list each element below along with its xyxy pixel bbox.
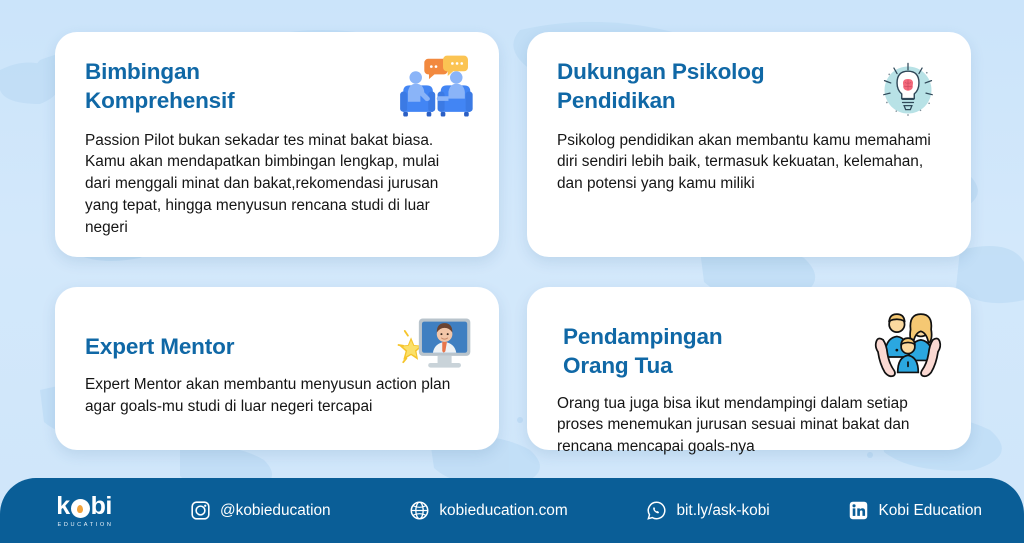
card-body: Passion Pilot bukan sekadar tes minat ba…	[85, 130, 469, 239]
globe-icon	[409, 500, 430, 521]
logo-o-icon	[71, 499, 90, 518]
card-body: Psikolog pendidikan akan membantu kamu m…	[557, 130, 941, 196]
whatsapp-icon	[646, 500, 667, 521]
family-in-hands-icon	[869, 309, 947, 381]
kobi-logo[interactable]: k bi EDUCATION	[4, 494, 164, 528]
instagram-icon	[190, 500, 211, 521]
card-pendampingan-orang-tua[interactable]: Pendampingan Orang Tua Orang tua juga bi…	[527, 287, 971, 450]
feature-cards-grid: Bimbingan Komprehensif Passion Pilot buk…	[55, 32, 971, 450]
linkedin-icon	[848, 500, 869, 521]
social-link-instagram[interactable]: @kobieducation	[190, 500, 331, 521]
logo-word-before: k	[56, 494, 69, 519]
social-link-linkedin[interactable]: Kobi Education	[848, 500, 982, 521]
card-expert-mentor[interactable]: Expert Mentor Expert Mentor akan membant…	[55, 287, 499, 450]
two-people-discussion-icon	[397, 54, 475, 126]
social-label: kobieducation.com	[439, 502, 567, 520]
card-bimbingan-komprehensif[interactable]: Bimbingan Komprehensif Passion Pilot buk…	[55, 32, 499, 257]
social-link-whatsapp[interactable]: bit.ly/ask-kobi	[646, 500, 769, 521]
social-links: @kobieducation kobieducation.com	[164, 500, 1024, 521]
logo-word-after: bi	[91, 494, 112, 519]
card-dukungan-psikolog-pendidikan[interactable]: Dukungan Psikolog Pendidikan Psikolog pe…	[527, 32, 971, 257]
footer-bar: k bi EDUCATION @kobieducation	[0, 478, 1024, 543]
social-label: @kobieducation	[220, 502, 331, 520]
logo-wordmark: k bi	[56, 494, 112, 519]
mentor-on-monitor-icon	[397, 309, 475, 381]
logo-subtitle: EDUCATION	[55, 522, 114, 528]
social-link-website[interactable]: kobieducation.com	[409, 500, 567, 521]
lightbulb-brain-icon	[869, 54, 947, 126]
card-title: Bimbingan Komprehensif	[85, 58, 385, 116]
card-title: Expert Mentor	[85, 333, 385, 362]
social-label: bit.ly/ask-kobi	[676, 502, 769, 520]
social-label: Kobi Education	[878, 502, 982, 520]
card-title: Dukungan Psikolog Pendidikan	[557, 58, 857, 116]
card-body: Orang tua juga bisa ikut mendampingi dal…	[557, 393, 941, 459]
card-title: Pendampingan Orang Tua	[557, 323, 857, 381]
